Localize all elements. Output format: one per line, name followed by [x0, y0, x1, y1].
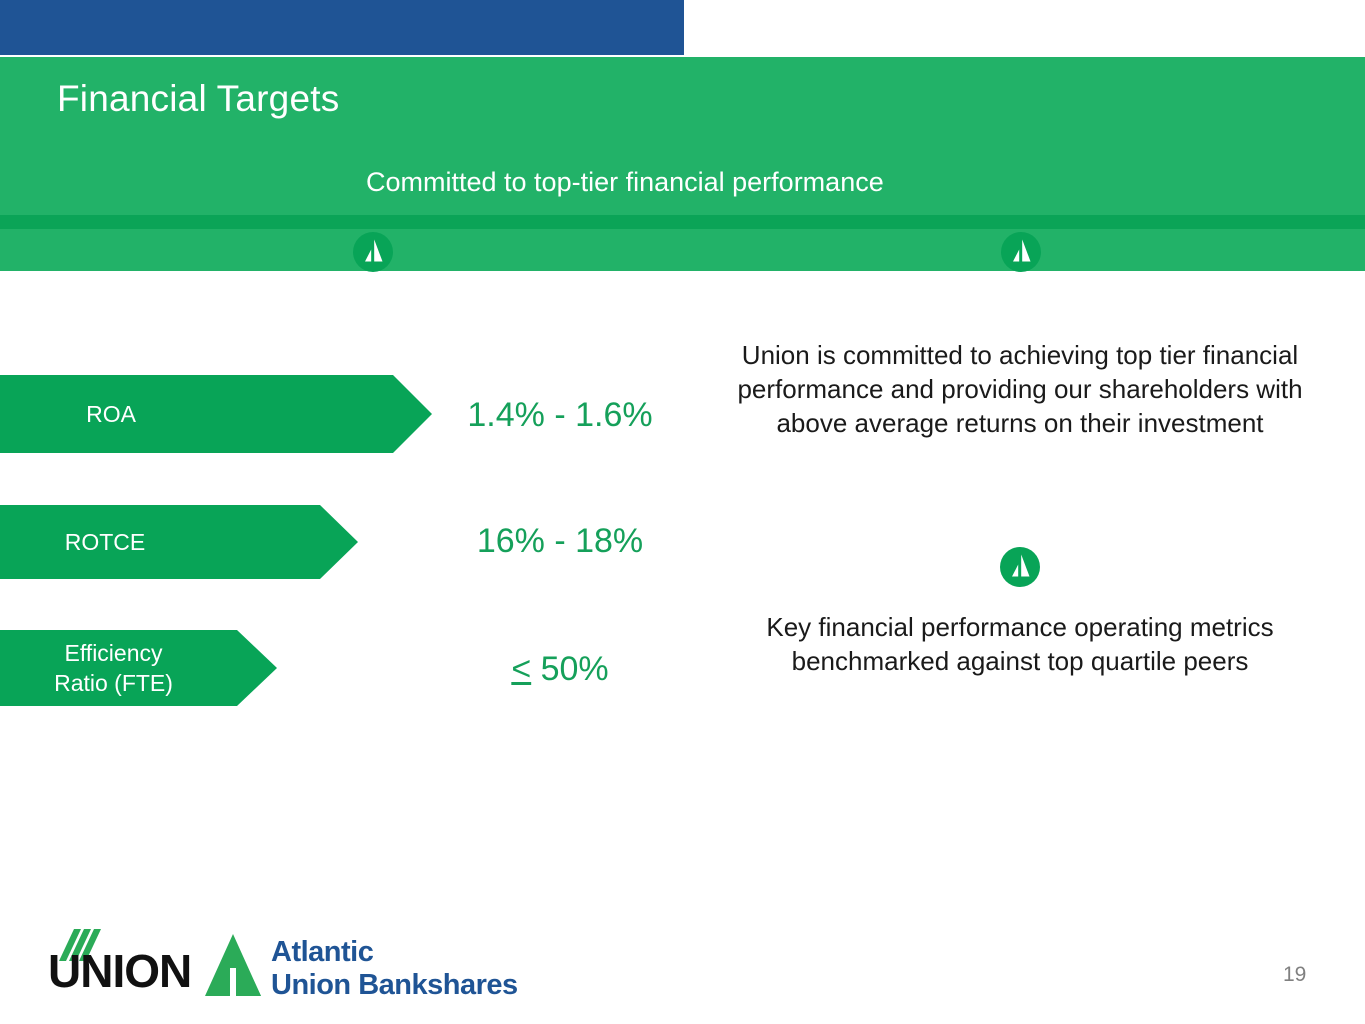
- atlantic-union-bankshares-logo: Atlantic Union Bankshares: [203, 928, 533, 1003]
- page-number: 19: [1283, 963, 1306, 987]
- blue-accent-bar: [0, 0, 684, 55]
- metric-value-number: 50%: [531, 650, 609, 688]
- metric-label: Efficiency Ratio (FTE): [0, 638, 277, 698]
- metric-label: ROTCE: [0, 527, 358, 557]
- less-than-or-equal-symbol: <: [511, 650, 531, 688]
- metric-value-efficiency-ratio: < 50%: [440, 650, 680, 689]
- metric-arrow-roa: ROA: [0, 375, 432, 453]
- svg-text:Union Bankshares: Union Bankshares: [271, 969, 518, 1001]
- mountain-mark-icon: [205, 934, 261, 996]
- callout-text-bottom: Key financial performance operating metr…: [745, 610, 1295, 678]
- metric-label-line2: Ratio (FTE): [54, 670, 173, 696]
- metric-arrow-efficiency-ratio: Efficiency Ratio (FTE): [0, 630, 277, 706]
- metric-label-line1: Efficiency: [64, 640, 162, 666]
- metric-label: ROA: [0, 399, 432, 429]
- metric-value-roa: 1.4% - 1.6%: [440, 396, 680, 435]
- callout-text-top: Union is committed to achieving top tier…: [735, 338, 1305, 440]
- svg-text:UNION: UNION: [48, 945, 191, 995]
- page-subtitle: Committed to top-tier financial performa…: [366, 167, 884, 198]
- flame-circle-icon: [1000, 231, 1042, 273]
- metric-value-rotce: 16% - 18%: [440, 522, 680, 561]
- union-logo: UNION: [48, 925, 198, 995]
- svg-text:Atlantic: Atlantic: [271, 936, 374, 968]
- flame-circle-icon: [999, 546, 1041, 588]
- metric-arrow-rotce: ROTCE: [0, 505, 358, 579]
- header-dark-strip: [0, 215, 1365, 229]
- flame-circle-icon: [352, 231, 394, 273]
- header-light-strip: [0, 229, 1365, 271]
- page-title: Financial Targets: [57, 78, 339, 120]
